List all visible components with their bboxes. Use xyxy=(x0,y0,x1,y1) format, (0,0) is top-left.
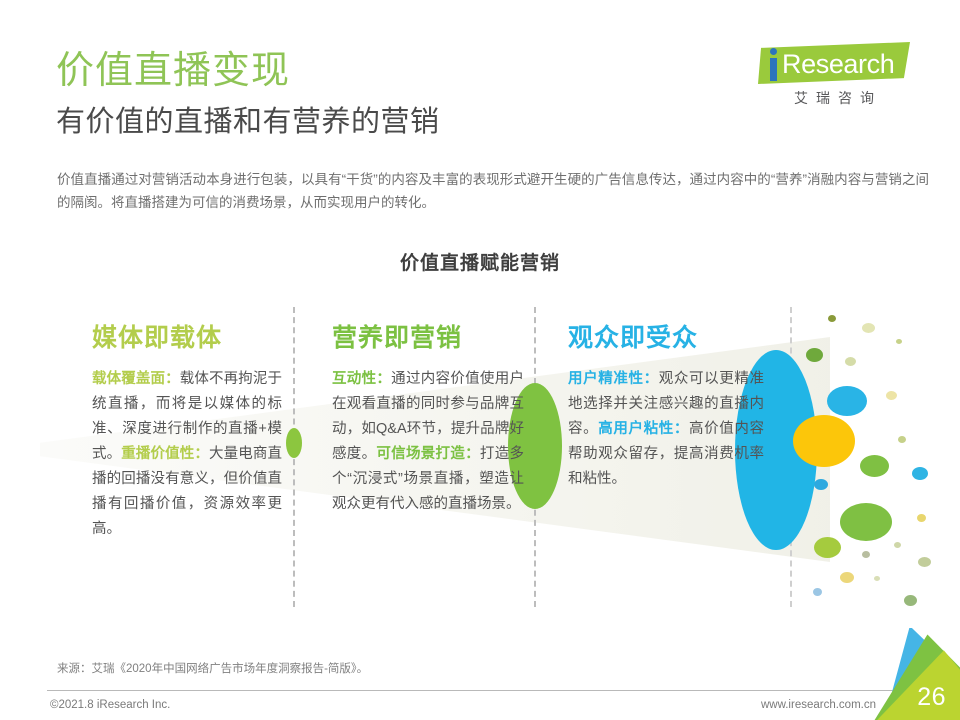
website-url[interactable]: www.iresearch.com.cn xyxy=(761,699,876,711)
column-keyword: 高用户粘性： xyxy=(598,421,689,437)
logo-chinese-name: 艾瑞咨询 xyxy=(768,88,908,108)
column-heading: 媒体即载体 xyxy=(92,323,282,353)
figure-column-nutrition: 营养即营销 互动性：通过内容价值使用户在观看直播的同时参与品牌互动，如Q&A环节… xyxy=(332,323,524,517)
column-body: 用户精准性：观众可以更精准地选择并关注感兴趣的直播内容。高用户粘性：高价值内容帮… xyxy=(568,367,764,492)
slide-canvas: 价值直播变现 有价值的直播和有营养的营销 价值直播通过对营销活动本身进行包装，以… xyxy=(0,0,960,720)
figure-column-media: 媒体即载体 载体覆盖面：载体不再拘泥于统直播，而将是以媒体的标准、深度进行制作的… xyxy=(92,323,282,542)
growth-ellipse-small xyxy=(286,428,302,458)
logo-wordmark: Research xyxy=(782,49,894,79)
page-number: 26 xyxy=(917,683,946,712)
iresearch-logo: Research 艾瑞咨询 xyxy=(746,40,912,116)
highlight-ellipse-yellow xyxy=(793,415,855,467)
page-subtitle: 有价值的直播和有营养的营销 xyxy=(56,104,440,140)
column-keyword: 重播价值性： xyxy=(121,446,209,462)
figure-title: 价值直播赋能营销 xyxy=(0,248,960,275)
source-note: 来源：艾瑞《2020年中国网络广告市场年度洞察报告-简版》。 xyxy=(57,660,368,676)
column-keyword: 互动性： xyxy=(332,371,391,387)
column-keyword: 用户精准性： xyxy=(568,371,659,387)
column-body: 载体覆盖面：载体不再拘泥于统直播，而将是以媒体的标准、深度进行制作的直播+模式。… xyxy=(92,367,282,542)
column-heading: 营养即营销 xyxy=(332,323,524,353)
logo-i-dot-icon xyxy=(770,48,777,55)
lead-paragraph: 价值直播通过对营销活动本身进行包装，以具有“干货”的内容及丰富的表现形式避开生硬… xyxy=(57,168,929,214)
figure-area: 媒体即载体 载体覆盖面：载体不再拘泥于统直播，而将是以媒体的标准、深度进行制作的… xyxy=(0,295,960,605)
column-body: 互动性：通过内容价值使用户在观看直播的同时参与品牌互动，如Q&A环节，提升品牌好… xyxy=(332,367,524,517)
footer-divider xyxy=(47,690,913,691)
column-heading: 观众即受众 xyxy=(568,323,764,353)
column-keyword: 载体覆盖面： xyxy=(92,371,180,387)
column-keyword: 可信场景打造： xyxy=(376,446,480,462)
copyright-text: ©2021.8 iResearch Inc. xyxy=(50,699,170,711)
logo-i-stem-icon xyxy=(770,58,777,81)
figure-column-audience: 观众即受众 用户精准性：观众可以更精准地选择并关注感兴趣的直播内容。高用户粘性：… xyxy=(568,323,764,492)
corner-ribbon: 26 xyxy=(864,628,960,720)
page-title: 价值直播变现 xyxy=(56,48,290,94)
